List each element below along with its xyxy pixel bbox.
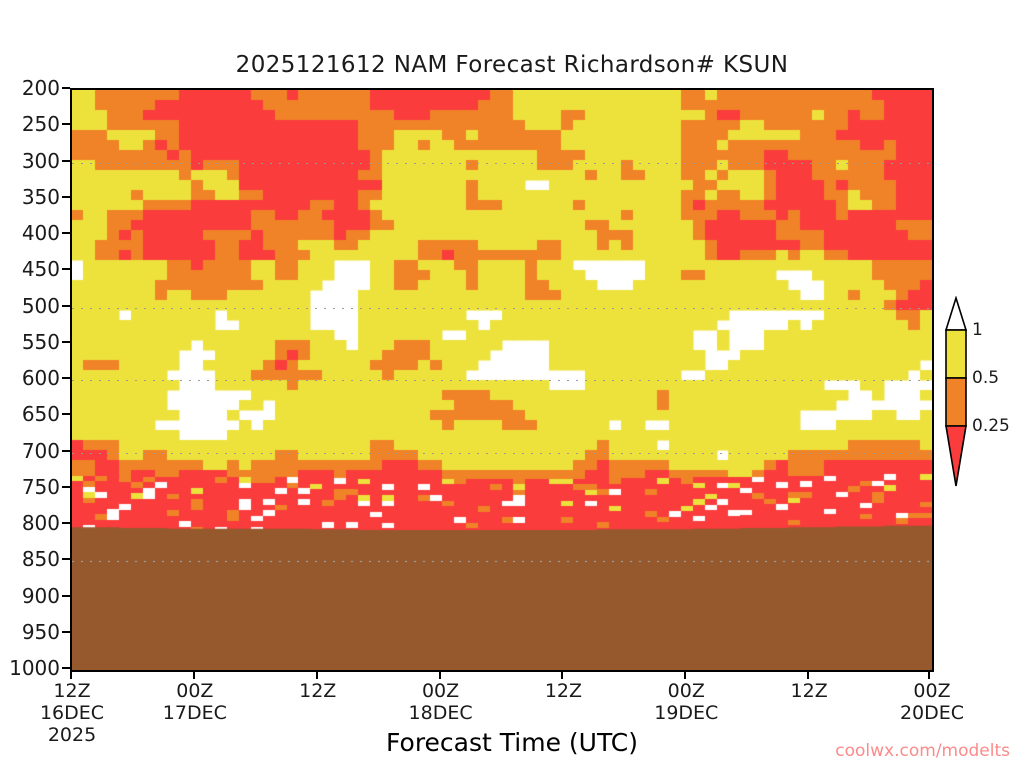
y-tick-label-800: 800 [22,511,60,535]
x-tick-time: 12Z [545,680,582,702]
x-tick-date: 16DEC [40,702,104,724]
x-tick-mark [316,672,318,679]
x-tick-label-00Z-20DEC: 00Z20DEC [900,680,964,724]
y-tick-mark [62,87,70,89]
gridline-850 [72,561,932,562]
y-axis-labels: 2002503003504004505005506006507007508008… [0,88,60,672]
colorbar-below-025-arrow [946,426,966,486]
x-tick-time: 12Z [791,680,828,702]
x-tick-time: 12Z [53,680,90,702]
x-tick-mark [193,672,195,679]
y-tick-mark [62,667,70,669]
colorbar-band-yellow [946,330,966,378]
y-tick-label-750: 750 [22,475,60,499]
y-tick-label-700: 700 [22,439,60,463]
gridline-600 [72,380,932,381]
y-tick-mark [62,450,70,452]
y-tick-label-550: 550 [22,330,60,354]
y-tick-mark [62,558,70,560]
x-tick-label-00Z-17DEC: 00Z17DEC [163,680,227,724]
x-tick-date: 18DEC [409,702,473,724]
y-tick-mark [62,341,70,343]
y-tick-label-300: 300 [22,149,60,173]
x-tick-mark [561,672,563,679]
y-tick-mark [62,305,70,307]
y-tick-mark [62,522,70,524]
y-tick-mark [62,377,70,379]
colorbar-above-1-arrow [946,298,966,330]
y-tick-label-500: 500 [22,294,60,318]
colorbar-swatches [940,296,974,496]
x-tick-time: 00Z [913,680,950,702]
colorbar-legend: 1 0.5 0.25 [940,296,1024,496]
x-tick-date: 17DEC [163,702,227,724]
colorbar-tick-0p5: 0.5 [972,368,999,388]
x-tick-mark [439,672,441,679]
y-tick-mark [62,196,70,198]
x-tick-time: 00Z [176,680,213,702]
x-tick-date: 19DEC [654,702,718,724]
y-tick-label-400: 400 [22,221,60,245]
y-tick-label-250: 250 [22,112,60,136]
x-tick-time: 00Z [422,680,459,702]
x-tick-label-00Z-18DEC: 00Z18DEC [409,680,473,724]
x-axis-ticks [70,672,934,680]
y-tick-label-950: 950 [22,620,60,644]
y-tick-label-200: 200 [22,76,60,100]
y-tick-mark [62,268,70,270]
y-tick-mark [62,413,70,415]
plot-area [70,88,934,672]
x-tick-date: 20DEC [900,702,964,724]
y-tick-mark [62,160,70,162]
x-tick-mark [928,672,930,679]
x-tick-label-12Z: 12Z [299,680,336,702]
x-tick-label-00Z-19DEC: 00Z19DEC [654,680,718,724]
gridline-300 [72,163,932,164]
gridline-700 [72,453,932,454]
gridline-500 [72,308,932,309]
colorbar-tick-0p25: 0.25 [972,416,1010,436]
y-tick-label-1000: 1000 [9,656,60,680]
x-tick-mark [70,672,72,679]
y-tick-label-600: 600 [22,366,60,390]
x-tick-label-12Z: 12Z [545,680,582,702]
site-credit: coolwx.com/modelts [835,741,1010,761]
chart-page: 2025121612 NAM Forecast Richardson# KSUN… [0,0,1024,768]
y-tick-label-650: 650 [22,402,60,426]
x-tick-mark [684,672,686,679]
x-tick-time: 00Z [668,680,705,702]
x-tick-mark [807,672,809,679]
x-tick-label-12Z: 12Z [791,680,828,702]
y-tick-mark [62,123,70,125]
y-tick-label-450: 450 [22,257,60,281]
colorbar-tick-1: 1 [972,320,983,340]
page-title: 2025121612 NAM Forecast Richardson# KSUN [0,52,1024,78]
y-tick-label-350: 350 [22,185,60,209]
colorbar-band-orange [946,378,966,426]
y-tick-mark [62,486,70,488]
x-tick-time: 12Z [299,680,336,702]
gridlines [72,90,932,670]
y-tick-mark [62,595,70,597]
y-tick-mark [62,631,70,633]
y-tick-label-900: 900 [22,584,60,608]
y-tick-mark [62,232,70,234]
gridline-1000 [72,670,932,671]
y-tick-label-850: 850 [22,547,60,571]
